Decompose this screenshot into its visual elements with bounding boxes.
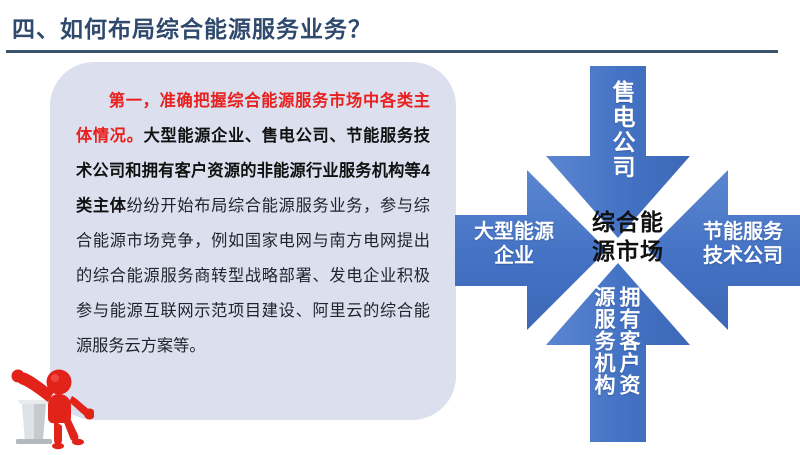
content-text-panel: 第一，准确把握综合能源服务市场中各类主体情况。大型能源企业、售电公司、节能服务技… xyxy=(50,62,456,420)
arrow-right-label-line2: 技术公司 xyxy=(688,244,798,268)
arrow-left-label: 大型能源 企业 xyxy=(459,220,569,268)
panel-paragraph: 第一，准确把握综合能源服务市场中各类主体情况。大型能源企业、售电公司、节能服务技… xyxy=(76,84,430,364)
podium-shape xyxy=(16,400,52,444)
arrow-bottom-label-col2: 源服务机构 xyxy=(591,286,616,436)
arrow-bottom-label: 拥有客户资 源服务机构 xyxy=(583,286,649,436)
red-presenter-figure-icon xyxy=(2,352,94,450)
arrow-top-label: 售电公司 xyxy=(601,80,635,180)
title-divider xyxy=(6,50,778,53)
paragraph-normal-segment: 纷纷开始布局综合能源服务业务，参与综合能源市场竞争，例如国家电网与南方电网提出的… xyxy=(76,197,430,355)
arrow-right-label-line1: 节能服务 xyxy=(688,220,798,244)
page-title: 四、如何布局综合能源服务业务？ xyxy=(12,10,372,44)
arrow-left-label-line1: 大型能源 xyxy=(459,220,569,244)
arrow-left-label-line2: 企业 xyxy=(459,244,569,268)
arrow-right-label: 节能服务 技术公司 xyxy=(688,220,798,268)
hub-label-line2: 源市场 xyxy=(565,237,691,266)
diagram-hub-label: 综合能 源市场 xyxy=(565,208,691,266)
arrow-bottom-label-col1: 拥有客户资 xyxy=(616,286,641,436)
figure-head-highlight xyxy=(51,374,59,382)
converging-arrows-diagram: 售电公司 大型能源 企业 节能服务 技术公司 拥有客户资 源服务机构 综合能 源… xyxy=(455,58,800,450)
hub-label-line1: 综合能 xyxy=(565,208,691,237)
